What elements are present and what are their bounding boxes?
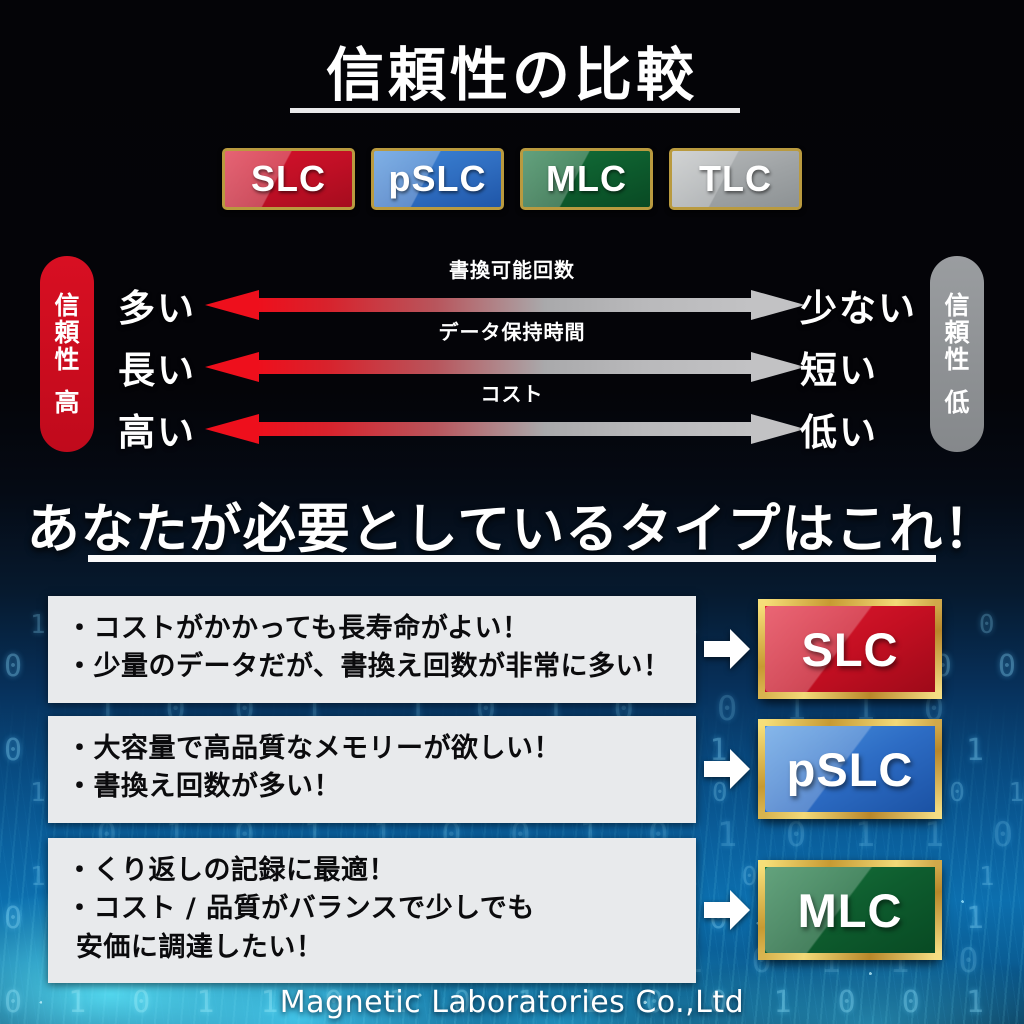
comparison-left-value: 高い xyxy=(118,402,196,456)
memory-type-badge-row: SLCpSLCMLCTLC xyxy=(0,148,1024,210)
badge-label: TLC xyxy=(699,158,772,200)
badge-label: pSLC xyxy=(389,158,487,200)
recommendation-line: ・書換え回数が多い！ xyxy=(66,768,678,806)
pill-right-char-2: 性 xyxy=(944,346,969,373)
reliability-high-pill: 信 頼 性 高 xyxy=(40,256,94,452)
recommendation-row: ・コストがかかっても長寿命がよい！・少量のデータだが、書換え回数が非常に多い！S… xyxy=(48,596,976,703)
arrow-right-icon xyxy=(696,629,758,669)
plaque-label: MLC xyxy=(798,883,903,938)
badge-slc[interactable]: SLC xyxy=(222,148,355,210)
recommendation-line: ・大容量で高品質なメモリーが欲しい！ xyxy=(66,730,678,768)
plaque-pslc[interactable]: pSLC xyxy=(758,719,942,819)
arrow-head-left-icon xyxy=(205,414,259,444)
arrow-shaft xyxy=(257,298,753,312)
reliability-comparison: 信 頼 性 高 信 頼 性 低 書換可能回数多い少ないデータ保持時間長い短いコス… xyxy=(0,248,1024,460)
badge-label: MLC xyxy=(546,158,627,200)
recommendation-card: ・コストがかかっても長寿命がよい！・少量のデータだが、書換え回数が非常に多い！ xyxy=(48,596,696,703)
pill-left-char-2: 性 xyxy=(54,346,79,373)
plaque-label: SLC xyxy=(802,622,899,677)
recommendation-row: ・くり返しの記録に最適！・コスト / 品質がバランスで少しでも 安価に調達したい… xyxy=(48,838,976,983)
comparison-right-value: 低い xyxy=(800,402,878,456)
recommendation-line: ・少量のデータだが、書換え回数が非常に多い！ xyxy=(66,648,678,686)
reliability-low-pill: 信 頼 性 低 xyxy=(930,256,984,452)
plaque-mlc[interactable]: MLC xyxy=(758,860,942,960)
badge-tlc[interactable]: TLC xyxy=(669,148,802,210)
arrow-head-right-icon xyxy=(751,414,805,444)
bidirectional-arrow xyxy=(205,414,805,444)
badge-label: SLC xyxy=(251,158,326,200)
callout-divider xyxy=(88,555,936,562)
recommendation-card: ・大容量で高品質なメモリーが欲しい！・書換え回数が多い！ xyxy=(48,716,696,823)
recommendation-line: 安価に調達したい！ xyxy=(66,929,678,967)
recommendation-line: ・コスト / 品質がバランスで少しでも xyxy=(66,890,678,928)
arrow-right-icon xyxy=(696,749,758,789)
title-divider xyxy=(290,108,740,113)
plaque-slc[interactable]: SLC xyxy=(758,599,942,699)
pill-right-char-0: 信 xyxy=(944,292,969,319)
recommendation-line: ・コストがかかっても長寿命がよい！ xyxy=(66,610,678,648)
badge-pslc[interactable]: pSLC xyxy=(371,148,504,210)
company-footer: Magnetic Laboratories Co.,Ltd xyxy=(0,985,1024,1020)
arrow-shaft xyxy=(257,422,753,436)
recommendation-line: ・くり返しの記録に最適！ xyxy=(66,852,678,890)
pill-left-char-0: 信 xyxy=(54,292,79,319)
callout-heading: あなたが必要としているタイプはこれ！ xyxy=(0,487,1024,563)
infographic-canvas: 1 0 0 1 1 0 1 0 0 1 0 1 1 0 0 1 00 1 1 0… xyxy=(0,0,1024,1024)
plaque-label: pSLC xyxy=(787,742,914,797)
page-title: 信頼性の比較 xyxy=(0,28,1024,112)
recommendation-card: ・くり返しの記録に最適！・コスト / 品質がバランスで少しでも 安価に調達したい… xyxy=(48,838,696,983)
badge-mlc[interactable]: MLC xyxy=(520,148,653,210)
recommendation-row: ・大容量で高品質なメモリーが欲しい！・書換え回数が多い！pSLC xyxy=(48,716,976,823)
arrow-shaft xyxy=(257,360,753,374)
arrow-right-icon xyxy=(696,890,758,930)
